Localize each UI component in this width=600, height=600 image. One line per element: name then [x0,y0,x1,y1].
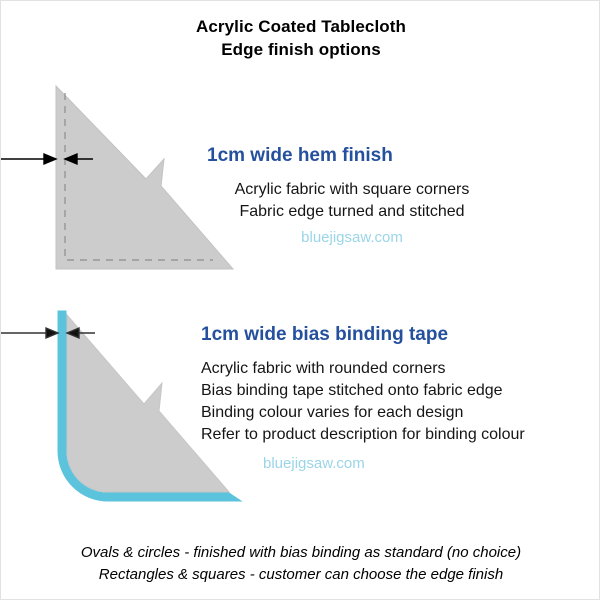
bias-bullet-list: Acrylic fabric with rounded corners Bias… [201,358,597,475]
bias-bullet-2: Bias binding tape stitched onto fabric e… [201,380,597,402]
hem-watermark: bluejigsaw.com [207,227,497,249]
bias-bullet-3: Binding colour varies for each design [201,402,597,424]
bias-bullet-1: Acrylic fabric with rounded corners [201,358,597,380]
bias-bullet-4: Refer to product description for binding… [201,424,597,446]
hem-bullet-list: Acrylic fabric with square corners Fabri… [207,179,497,249]
footer-note: Ovals & circles - finished with bias bin… [1,542,600,586]
hem-text-block: 1cm wide hem finish Acrylic fabric with … [207,144,597,249]
page-title: Acrylic Coated Tablecloth Edge finish op… [1,15,600,61]
bias-watermark: bluejigsaw.com [263,453,597,475]
footer-line-1: Ovals & circles - finished with bias bin… [1,542,600,564]
hem-section-heading: 1cm wide hem finish [207,144,597,168]
footer-line-2: Rectangles & squares - customer can choo… [1,564,600,586]
hem-bullet-2: Fabric edge turned and stitched [207,201,497,223]
page-title-line-1: Acrylic Coated Tablecloth [1,15,600,38]
bias-text-block: 1cm wide bias binding tape Acrylic fabri… [201,323,597,475]
page-title-line-2: Edge finish options [1,38,600,61]
bias-section-heading: 1cm wide bias binding tape [201,323,597,347]
hem-bullet-1: Acrylic fabric with square corners [207,179,497,201]
